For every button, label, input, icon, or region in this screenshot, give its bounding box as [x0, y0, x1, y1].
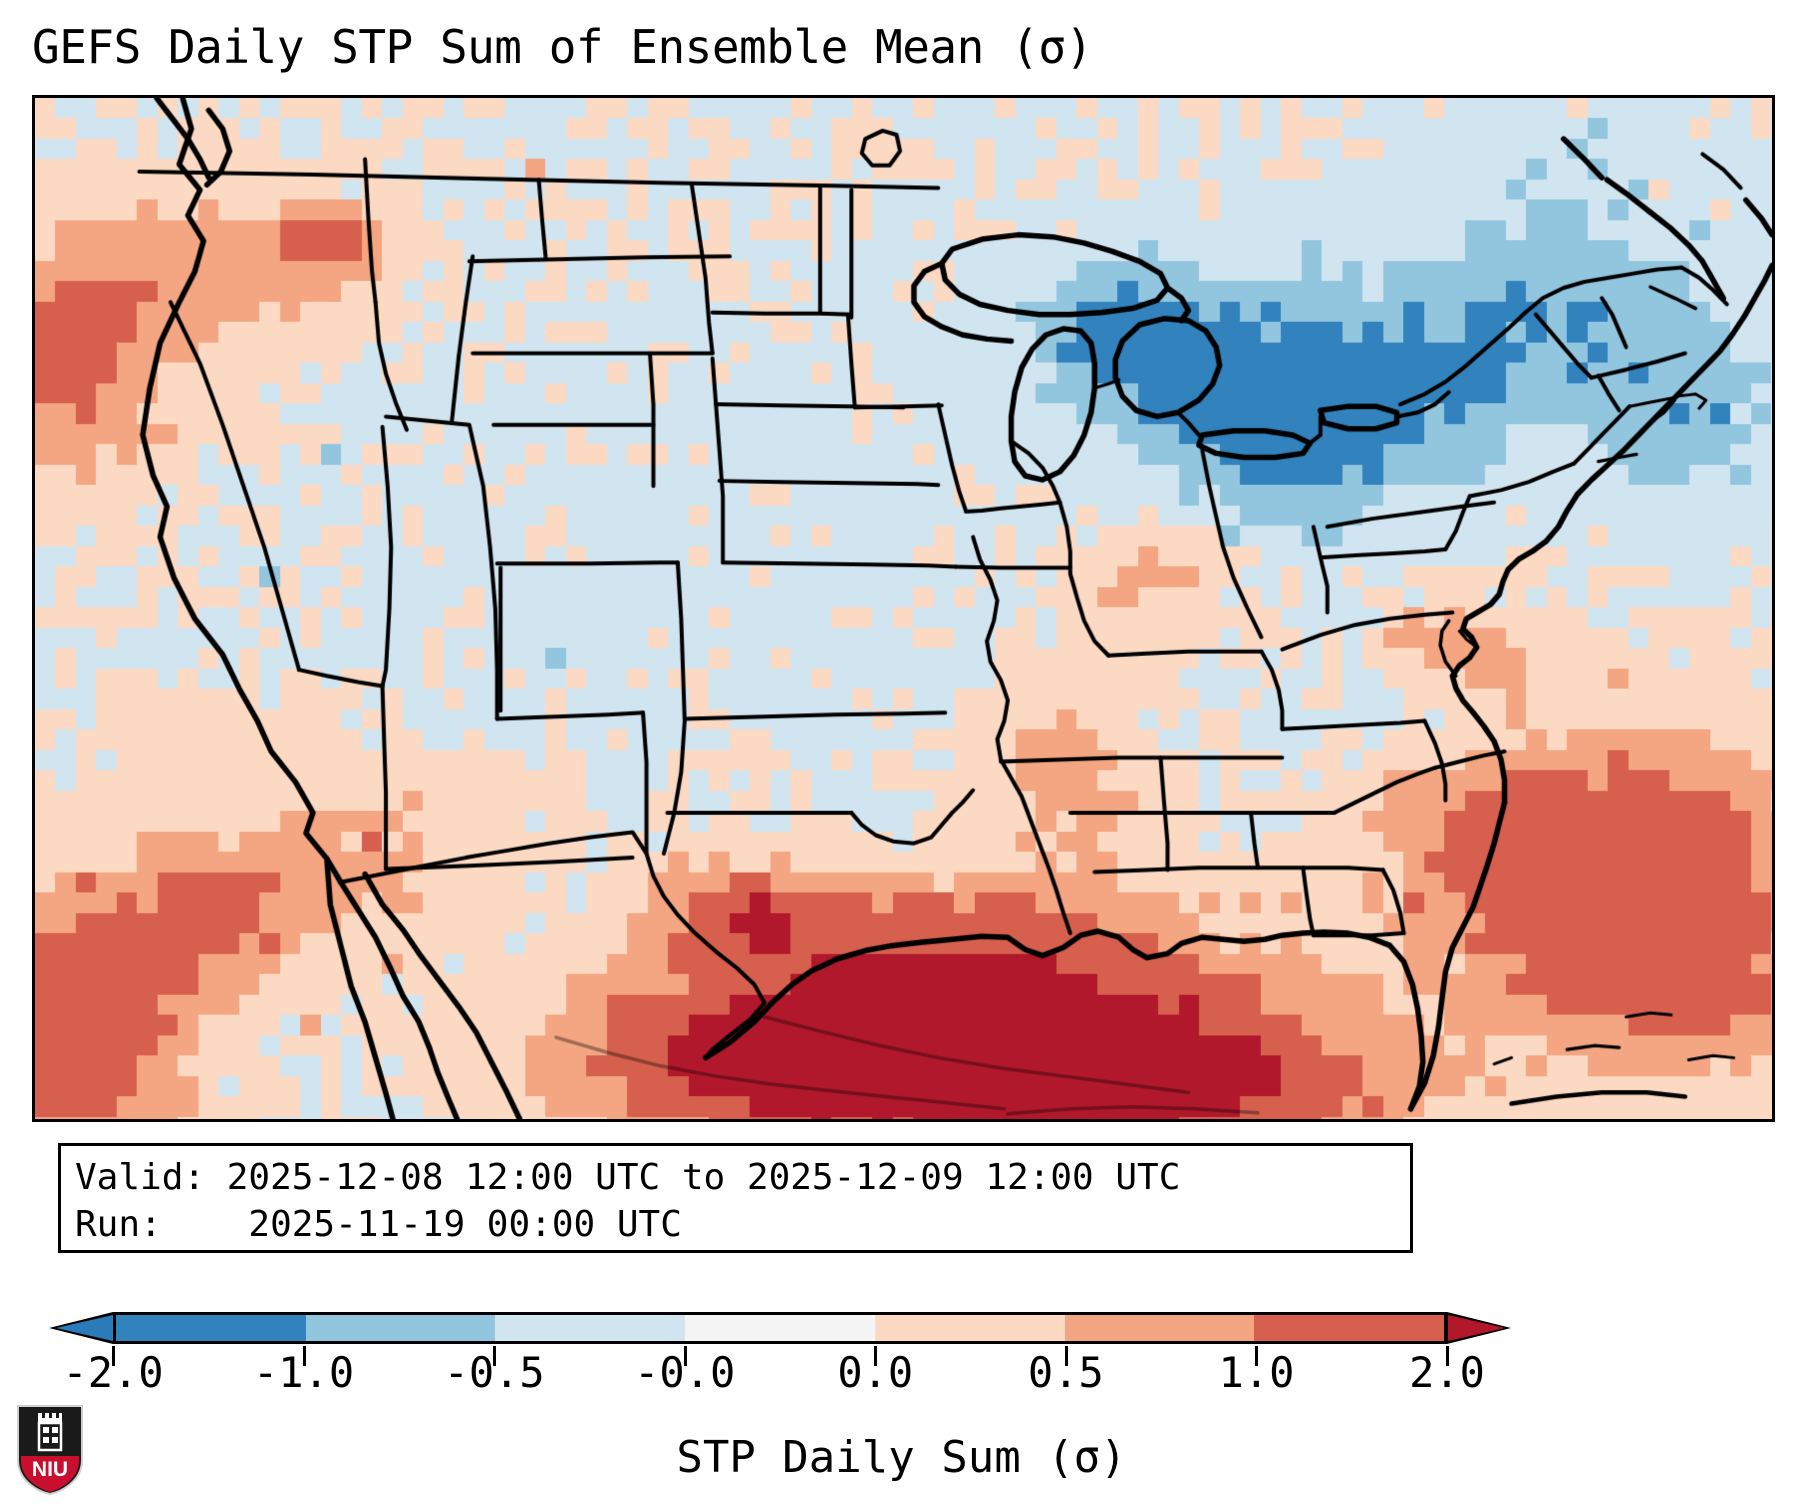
- colorbar-tick-label-1: -1.0: [253, 1348, 354, 1398]
- colorbar-bands: [113, 1312, 1447, 1344]
- colorbar-band-4: [875, 1315, 1065, 1341]
- colorbar-band-6: [1254, 1315, 1444, 1341]
- page-title: GEFS Daily STP Sum of Ensemble Mean (σ): [32, 17, 1772, 77]
- run-time-text: Run: 2025-11-19 00:00 UTC: [75, 1201, 1396, 1248]
- colorbar-band-3: [685, 1315, 875, 1341]
- stp-heatmap-canvas: [35, 98, 1772, 1119]
- colorbar-band-0: [116, 1315, 306, 1341]
- colorbar-tick-label-5: 0.5: [1028, 1348, 1104, 1398]
- colorbar-tick-label-3: -0.0: [634, 1348, 735, 1398]
- colorbar-tick-label-7: 2.0: [1409, 1348, 1485, 1398]
- colorbar-tick-label-6: 1.0: [1218, 1348, 1294, 1398]
- colorbar-band-2: [495, 1315, 685, 1341]
- niu-logo: NIU: [16, 1404, 84, 1496]
- colorbar-under-arrow: [56, 1315, 113, 1341]
- colorbar-tick-label-4: 0.0: [837, 1348, 913, 1398]
- valid-time-text: Valid: 2025-12-08 12:00 UTC to 2025-12-0…: [75, 1154, 1396, 1201]
- colorbar-tick-label-0: -2.0: [62, 1348, 163, 1398]
- colorbar-over-arrow: [1448, 1315, 1505, 1341]
- niu-wordmark: NIU: [32, 1458, 68, 1481]
- colorbar-tick-label-2: -0.5: [444, 1348, 545, 1398]
- colorbar-axis-label: STP Daily Sum (σ): [0, 1430, 1803, 1486]
- colorbar-band-5: [1065, 1315, 1255, 1341]
- map-plot-area: [32, 95, 1775, 1122]
- colorbar-band-1: [306, 1315, 496, 1341]
- valid-run-annotation-box: Valid: 2025-12-08 12:00 UTC to 2025-12-0…: [58, 1143, 1413, 1253]
